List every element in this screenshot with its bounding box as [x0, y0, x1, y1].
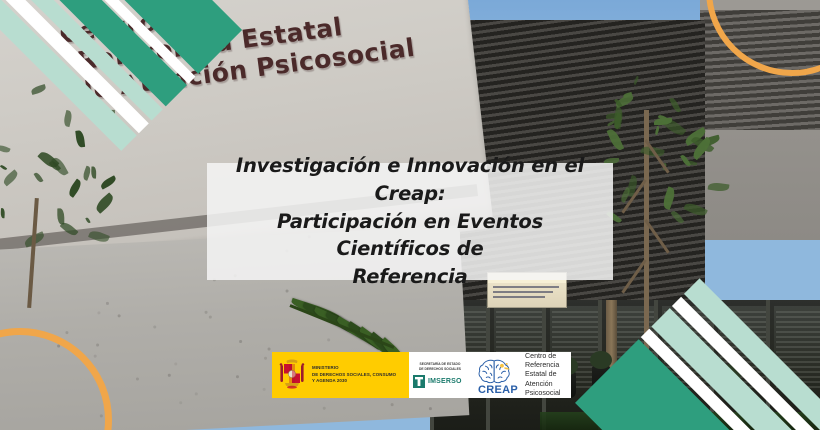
creap-name: Centro de Referencia Estatal de Atención…	[525, 352, 560, 399]
ministry-line3: Y AGENDA 2030	[312, 378, 396, 385]
secretariat-line2: DE DERECHOS SOCIALES	[413, 367, 467, 372]
title-card: Investigación e Innovación en el Creap: …	[207, 163, 613, 280]
title-line3: Referencia	[352, 265, 467, 288]
creap-line4: Atención	[525, 380, 560, 389]
creap-logo: CREAP Centro de Referencia Estatal de At…	[471, 352, 571, 398]
brain-logo-wrap: CREAP	[475, 354, 521, 396]
ministry-line2: DE DERECHOS SOCIALES, CONSUMO	[312, 372, 396, 379]
logo-bar: MINISTERIO DE DERECHOS SOCIALES, CONSUMO…	[272, 352, 571, 398]
creap-line3: Estatal de	[525, 370, 560, 379]
title-text: Investigación e Innovación en el Creap: …	[207, 152, 613, 290]
title-line2: Participación en Eventos Científicos de	[277, 210, 543, 261]
creap-line2: Referencia	[525, 361, 560, 370]
creap-line1: Centro de	[525, 352, 560, 361]
secretariat-name: SECRETARÍA DE ESTADO DE DERECHOS SOCIALE…	[413, 362, 467, 372]
banner-canvas: Centro de Referencia Estatal de Atención…	[0, 0, 820, 430]
imserso-logo: SECRETARÍA DE ESTADO DE DERECHOS SOCIALE…	[409, 352, 471, 398]
creap-acronym: CREAP	[475, 384, 521, 396]
ministry-line1: MINISTERIO	[312, 365, 396, 372]
ministry-name: MINISTERIO DE DERECHOS SOCIALES, CONSUMO…	[312, 365, 396, 385]
creap-line5: Psicosocial	[525, 389, 560, 398]
imserso-name: IMSERSO	[428, 378, 462, 385]
spain-coat-of-arms-icon	[277, 358, 307, 392]
ministry-logo: MINISTERIO DE DERECHOS SOCIALES, CONSUMO…	[272, 352, 409, 398]
imserso-row: IMSERSO	[413, 375, 467, 388]
imserso-mark-icon	[413, 375, 425, 388]
title-line1: Investigación e Innovación en el Creap:	[236, 154, 584, 205]
